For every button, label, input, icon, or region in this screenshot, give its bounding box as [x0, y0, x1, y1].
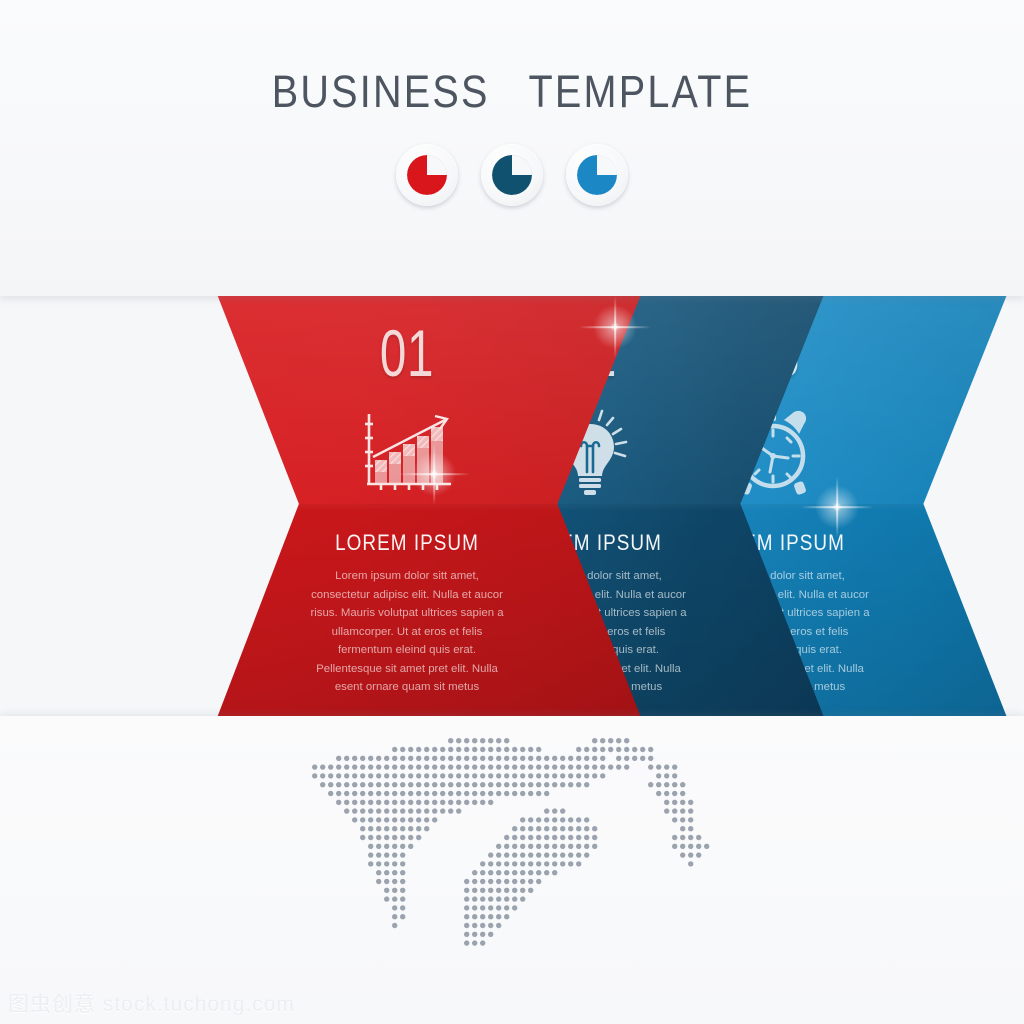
pie-chart-icon-red — [407, 155, 447, 195]
pie-chart-icon-blue — [577, 155, 617, 195]
panel-01-body: Lorem ipsum dolor sitt amet, consectetur… — [309, 567, 505, 697]
pie-icon-row — [0, 144, 1024, 206]
pie-badge-blue — [566, 144, 628, 206]
watermark-text: 图虫创意 stock.tuchong.com — [8, 988, 295, 1018]
pie-badge-red — [396, 144, 458, 206]
arrow-panel-group: 01 — [0, 292, 1024, 722]
header-band: BUSINESS TEMPLATE — [0, 0, 1024, 296]
panel-01-number: 01 — [238, 320, 576, 386]
panel-step-01[interactable]: 01 — [172, 292, 642, 720]
bar-chart-growth-icon — [172, 404, 642, 500]
pie-chart-icon-navy — [492, 155, 532, 195]
infographic-canvas: BUSINESS TEMPLATE 01 — [0, 0, 1024, 1024]
dotted-world-map — [232, 738, 792, 998]
footer-band: 图虫创意 stock.tuchong.com — [0, 716, 1024, 1024]
pie-badge-navy — [481, 144, 543, 206]
panel-01-title: LOREM IPSUM — [205, 530, 609, 556]
page-title: BUSINESS TEMPLATE — [61, 66, 962, 118]
